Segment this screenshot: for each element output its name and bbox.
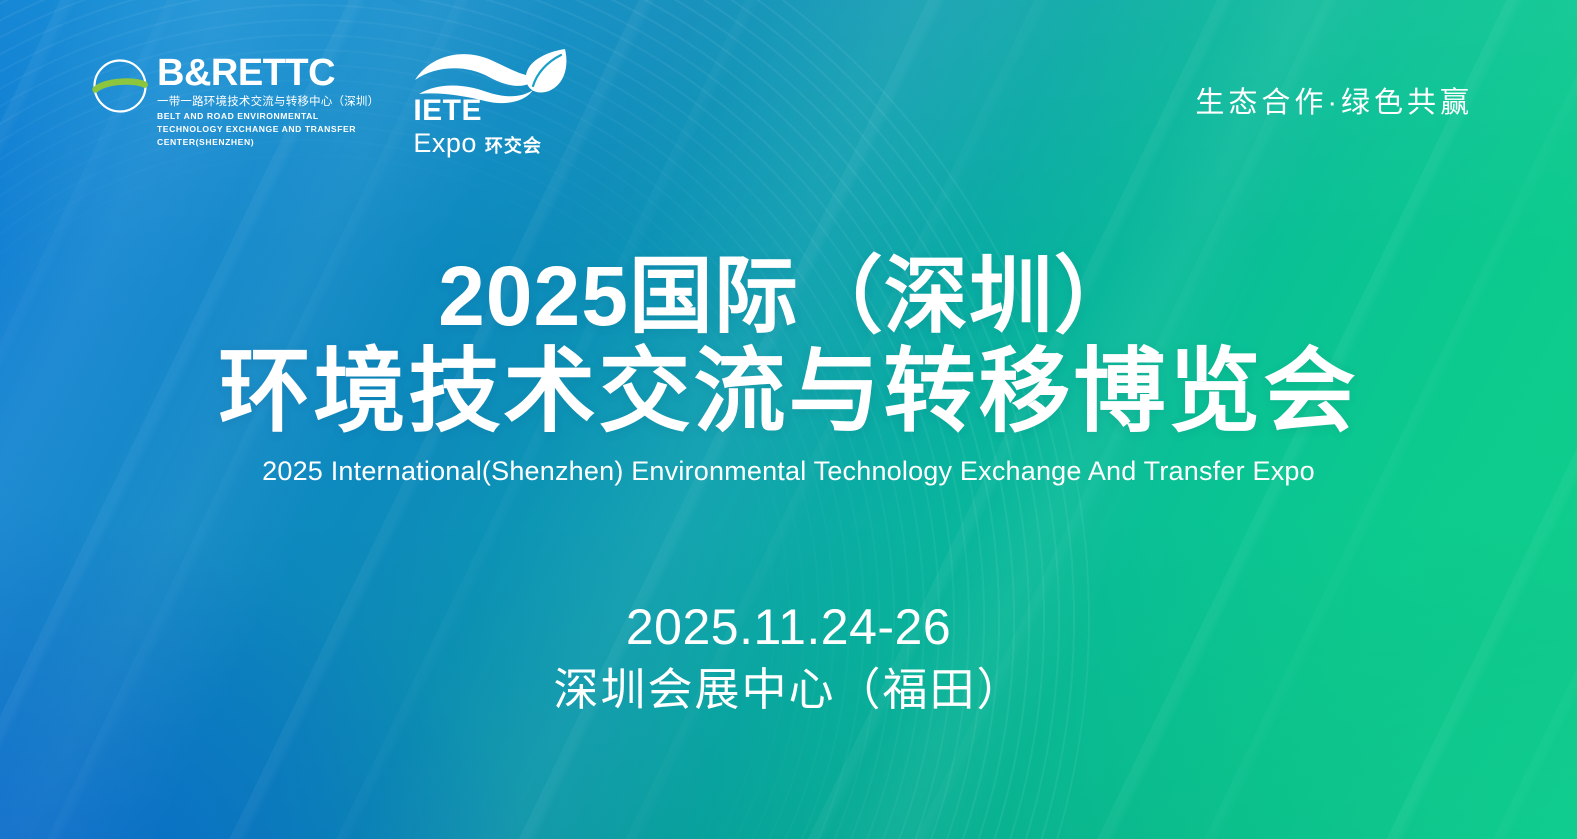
event-venue: 深圳会展中心（福田） (0, 663, 1577, 717)
brettc-chinese-name: 一带一路环境技术交流与转移中心（深圳） (157, 95, 379, 111)
iete-text-block: IETE Expo 环交会 (413, 96, 542, 157)
brettc-logo: B&RETTC 一带一路环境技术交流与转移中心（深圳） BELT AND ROA… (92, 51, 379, 148)
event-info-block: 2025.11.24-26 深圳会展中心（福田） (0, 598, 1577, 717)
event-slogan: 生态合作·绿色共赢 (1195, 79, 1473, 121)
main-title-block: 2025国际（深圳） 环境技术交流与转移博览会 2025 Internation… (0, 252, 1577, 487)
title-line-2: 环境技术交流与转移博览会 (0, 343, 1577, 442)
brettc-wordmark: B&RETTC (157, 55, 379, 92)
brettc-english-line-3: CENTER(SHENZHEN) (157, 137, 379, 149)
logo-group: B&RETTC 一带一路环境技术交流与转移中心（深圳） BELT AND ROA… (92, 48, 571, 152)
iete-acronym: IETE (413, 96, 542, 126)
event-date: 2025.11.24-26 (0, 598, 1577, 657)
title-line-1: 2025国际（深圳） (0, 252, 1577, 341)
iete-chinese-short: 环交会 (485, 137, 542, 155)
iete-expo-logo: IETE Expo 环交会 (413, 48, 571, 152)
globe-icon (92, 58, 148, 119)
event-banner: B&RETTC 一带一路环境技术交流与转移中心（深圳） BELT AND ROA… (0, 0, 1577, 839)
banner-header: B&RETTC 一带一路环境技术交流与转移中心（深圳） BELT AND ROA… (0, 0, 1577, 200)
brettc-english-line-2: TECHNOLOGY EXCHANGE AND TRANSFER (157, 124, 379, 136)
iete-expo-word: Expo (413, 130, 477, 157)
brettc-text-block: B&RETTC 一带一路环境技术交流与转移中心（深圳） BELT AND ROA… (157, 55, 379, 148)
brettc-english-line-1: BELT AND ROAD ENVIRONMENTAL (157, 111, 379, 123)
iete-subtitle-row: Expo 环交会 (413, 130, 542, 157)
title-english: 2025 International(Shenzhen) Environment… (0, 456, 1577, 487)
